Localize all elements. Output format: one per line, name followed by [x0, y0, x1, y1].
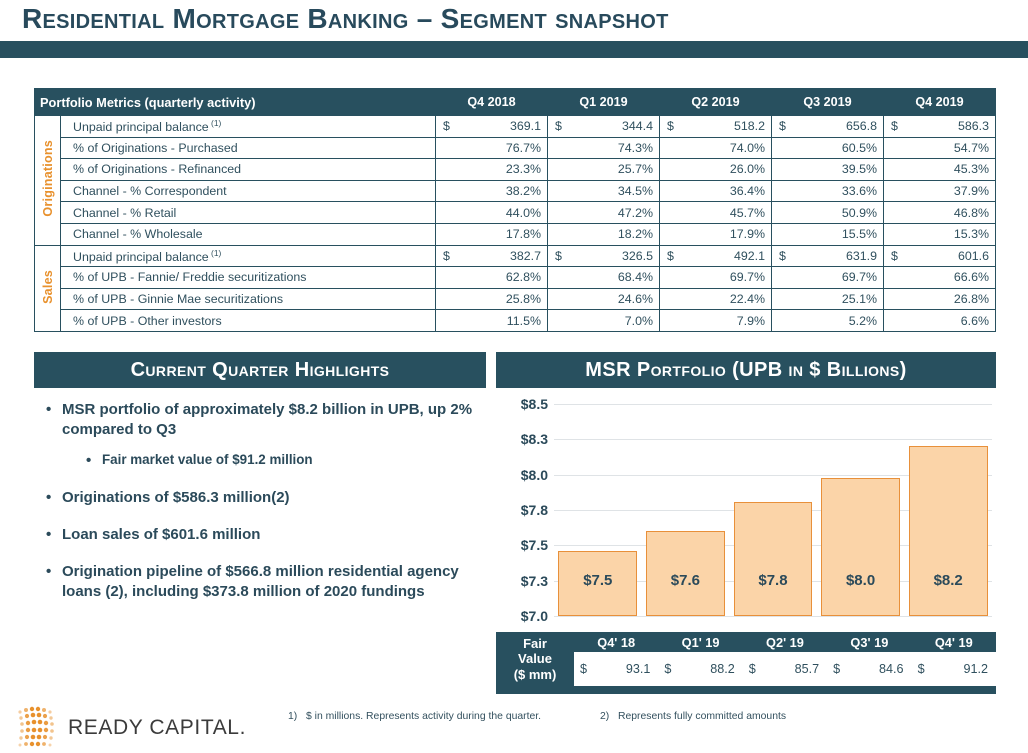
metric-value-text: 7.0% — [625, 314, 653, 328]
logo-wordmark: READY CAPITAL. — [68, 716, 246, 740]
metric-value-text: 26.8% — [954, 292, 989, 306]
metric-value-text: 60.5% — [842, 141, 877, 155]
y-axis-tick-label: $8.5 — [521, 396, 548, 412]
title-divider — [0, 41, 1028, 58]
bullet-dot-icon: • — [46, 488, 62, 508]
metric-value-text: 586.3 — [958, 119, 989, 133]
metric-value: 68.4% — [548, 267, 660, 289]
chart-bar[interactable]: $7.8 — [734, 502, 813, 616]
fair-value-col-q1-19: Q1' 19 — [658, 632, 742, 652]
currency-symbol: $ — [891, 119, 898, 133]
chart-bar[interactable]: $7.6 — [646, 531, 725, 616]
metric-value-text: 656.8 — [846, 119, 877, 133]
metric-value-text: 24.6% — [618, 292, 653, 306]
metric-value-text: 369.1 — [510, 119, 541, 133]
fair-value-cell: $84.6 — [827, 652, 911, 686]
fair-value-cell: $85.7 — [743, 652, 827, 686]
chart-bar-slot: $8.0 — [821, 404, 900, 616]
metric-value-text: 37.9% — [954, 184, 989, 198]
metric-value: 39.5% — [772, 159, 884, 181]
metric-value: 26.0% — [660, 159, 772, 181]
chart-bar-slot: $8.2 — [909, 404, 988, 616]
metric-value: 76.7% — [436, 137, 548, 159]
metric-value-text: 344.4 — [622, 119, 653, 133]
footnote-1-number: 1) — [288, 710, 306, 724]
metric-value: 7.9% — [660, 310, 772, 332]
fair-value-cell: $88.2 — [658, 652, 742, 686]
y-axis-tick-label: $7.3 — [521, 573, 548, 589]
fair-value-text: 93.1 — [626, 662, 651, 676]
metric-value: $586.3 — [884, 116, 996, 138]
metric-label: Unpaid principal balance (1) — [61, 245, 436, 267]
currency-symbol: $ — [667, 249, 674, 263]
metric-value: 18.2% — [548, 223, 660, 245]
metric-value: 47.2% — [548, 202, 660, 224]
currency-symbol: $ — [891, 249, 898, 263]
company-logo: READY CAPITAL. — [12, 705, 246, 751]
column-header-q1-2019: Q1 2019 — [548, 89, 660, 116]
msr-portfolio-header: MSR Portfolio (UPB in $ Billions) — [496, 352, 996, 388]
metric-value-text: 69.7% — [730, 270, 765, 284]
footnote-1-text: $ in millions. Represents activity durin… — [306, 710, 541, 724]
y-axis-tick-label: $7.5 — [521, 537, 548, 553]
msr-portfolio-bar-chart: $7.0$7.3$7.5$7.8$8.0$8.3$8.5 $7.5$7.6$7.… — [496, 396, 996, 630]
metric-value-text: 492.1 — [734, 249, 765, 263]
metric-value-text: 22.4% — [730, 292, 765, 306]
metric-value: 38.2% — [436, 180, 548, 202]
fair-value-col-q2-19: Q2' 19 — [743, 632, 827, 652]
currency-symbol: $ — [779, 119, 786, 133]
metric-value: 22.4% — [660, 288, 772, 310]
chart-bar-value-label: $8.0 — [846, 572, 875, 589]
metric-value-text: 74.0% — [730, 141, 765, 155]
metric-value: 37.9% — [884, 180, 996, 202]
metric-value: 66.6% — [884, 267, 996, 289]
chart-bar[interactable]: $7.5 — [558, 551, 637, 616]
metric-value-text: 68.4% — [618, 270, 653, 284]
column-header-q4-2018: Q4 2018 — [436, 89, 548, 116]
column-header-q3-2019: Q3 2019 — [772, 89, 884, 116]
metric-value-text: 45.7% — [730, 206, 765, 220]
metric-value-text: 76.7% — [506, 141, 541, 155]
metric-value: 25.8% — [436, 288, 548, 310]
metric-value: 17.8% — [436, 223, 548, 245]
metric-value-text: 54.7% — [954, 141, 989, 155]
fair-value-row-label: Fair Value ($ mm) — [496, 632, 574, 686]
metric-value-text: 631.9 — [846, 249, 877, 263]
table-row: % of Originations - Refinanced23.3%25.7%… — [35, 159, 996, 181]
highlight-bullet-text: Origination pipeline of $566.8 million r… — [62, 562, 486, 602]
metric-value: 26.8% — [884, 288, 996, 310]
highlight-bullet-text: MSR portfolio of approximately $8.2 bill… — [62, 400, 486, 440]
bullet-dot-icon: • — [46, 562, 62, 602]
metric-value-text: 26.0% — [730, 162, 765, 176]
currency-symbol: $ — [833, 662, 840, 676]
metric-value: $601.6 — [884, 245, 996, 267]
metric-value-text: 50.9% — [842, 206, 877, 220]
currency-symbol: $ — [918, 662, 925, 676]
metric-value: $382.7 — [436, 245, 548, 267]
currency-symbol: $ — [580, 662, 587, 676]
currency-symbol: $ — [555, 119, 562, 133]
metric-label: Channel - % Correspondent — [61, 180, 436, 202]
chart-bar-slot: $7.5 — [558, 404, 637, 616]
metric-value-text: 6.6% — [961, 314, 989, 328]
bullet-dot-icon: • — [46, 525, 62, 545]
metric-value-text: 25.8% — [506, 292, 541, 306]
metric-value: 34.5% — [548, 180, 660, 202]
metric-value: 50.9% — [772, 202, 884, 224]
metric-value-text: 601.6 — [958, 249, 989, 263]
metric-value-text: 382.7 — [510, 249, 541, 263]
metric-value-text: 34.5% — [618, 184, 653, 198]
table-row: Channel - % Correspondent38.2%34.5%36.4%… — [35, 180, 996, 202]
table-row: Channel - % Wholesale17.8%18.2%17.9%15.5… — [35, 223, 996, 245]
footnote-2: 2) Represents fully committed amounts — [600, 710, 900, 724]
metric-value-text: 74.3% — [618, 141, 653, 155]
fair-value-header-row: Fair Value ($ mm) Q4' 18 Q1' 19 Q2' 19 Q… — [496, 632, 996, 652]
chart-bar-value-label: $7.5 — [583, 572, 612, 589]
footnote-marker: (1) — [209, 118, 222, 128]
metric-value: 60.5% — [772, 137, 884, 159]
highlight-bullet: •Loan sales of $601.6 million — [46, 525, 486, 545]
metric-value-text: 36.4% — [730, 184, 765, 198]
table-row: % of UPB - Ginnie Mae securitizations25.… — [35, 288, 996, 310]
metric-value-text: 23.3% — [506, 162, 541, 176]
table-body: OriginationsUnpaid principal balance (1)… — [35, 116, 996, 332]
fair-value-cell: $91.2 — [912, 652, 996, 686]
metric-value-text: 518.2 — [734, 119, 765, 133]
metric-value-text: 46.8% — [954, 206, 989, 220]
fair-value-text: 85.7 — [795, 662, 820, 676]
currency-symbol: $ — [749, 662, 756, 676]
table-header-title: Portfolio Metrics (quarterly activity) — [35, 89, 436, 116]
metric-value: 74.0% — [660, 137, 772, 159]
metric-label: Channel - % Retail — [61, 202, 436, 224]
metric-label: Unpaid principal balance (1) — [61, 116, 436, 138]
metric-value-text: 69.7% — [842, 270, 877, 284]
fair-value-text: 88.2 — [710, 662, 735, 676]
highlight-bullet-text: Loan sales of $601.6 million — [62, 525, 486, 545]
ready-capital-dot-logo-icon — [12, 705, 60, 751]
footnote-1: 1) $ in millions. Represents activity du… — [288, 710, 550, 724]
chart-bar-value-label: $7.8 — [758, 572, 787, 589]
metric-value: 7.0% — [548, 310, 660, 332]
highlight-bullet: •Fair market value of $91.2 million — [86, 451, 486, 471]
chart-bar-value-label: $7.6 — [671, 572, 700, 589]
highlight-bullet-text: Fair market value of $91.2 million — [102, 451, 486, 471]
metric-label: % of UPB - Other investors — [61, 310, 436, 332]
bullet-dot-icon: • — [46, 400, 62, 440]
metric-value: 24.6% — [548, 288, 660, 310]
metric-value: 15.5% — [772, 223, 884, 245]
metric-value: 69.7% — [772, 267, 884, 289]
metric-label: % of UPB - Ginnie Mae securitizations — [61, 288, 436, 310]
metric-value-text: 5.2% — [849, 314, 877, 328]
metric-value: 6.6% — [884, 310, 996, 332]
footnote-marker: (1) — [209, 248, 222, 258]
metric-value-text: 11.5% — [507, 314, 541, 328]
section-rail-label: Originations — [41, 140, 55, 217]
metric-value-text: 7.9% — [737, 314, 765, 328]
metric-label: % of Originations - Refinanced — [61, 159, 436, 181]
metric-value-text: 17.9% — [730, 227, 765, 241]
metric-value-text: 45.3% — [954, 162, 989, 176]
metric-value: $631.9 — [772, 245, 884, 267]
metric-value-text: 18.2% — [618, 227, 653, 241]
table-row: Channel - % Retail44.0%47.2%45.7%50.9%46… — [35, 202, 996, 224]
currency-symbol: $ — [667, 119, 674, 133]
metric-value: $369.1 — [436, 116, 548, 138]
metric-value-text: 62.8% — [506, 270, 541, 284]
fair-value-label-line-3: ($ mm) — [496, 667, 574, 682]
chart-y-axis: $7.0$7.3$7.5$7.8$8.0$8.3$8.5 — [496, 396, 552, 630]
metric-value: 17.9% — [660, 223, 772, 245]
y-axis-tick-label: $7.0 — [521, 608, 548, 624]
metric-value-text: 25.7% — [618, 162, 653, 176]
table-header: Portfolio Metrics (quarterly activity) Q… — [35, 89, 996, 116]
metric-value: 15.3% — [884, 223, 996, 245]
currency-symbol: $ — [443, 249, 450, 263]
section-rail-originations: Originations — [35, 116, 61, 246]
column-header-q2-2019: Q2 2019 — [660, 89, 772, 116]
metric-value: 69.7% — [660, 267, 772, 289]
metric-value: 5.2% — [772, 310, 884, 332]
table-header-row: Portfolio Metrics (quarterly activity) Q… — [35, 89, 996, 116]
column-header-q4-2019: Q4 2019 — [884, 89, 996, 116]
current-quarter-highlights-header: Current Quarter Highlights — [34, 352, 486, 388]
metric-value: $344.4 — [548, 116, 660, 138]
metric-value-text: 66.6% — [954, 270, 989, 284]
metric-value: 11.5% — [436, 310, 548, 332]
metric-value-text: 15.5% — [842, 227, 877, 241]
metric-value: 46.8% — [884, 202, 996, 224]
metric-value: $656.8 — [772, 116, 884, 138]
metric-value-text: 326.5 — [622, 249, 653, 263]
metric-value: 45.7% — [660, 202, 772, 224]
table-row: % of UPB - Fannie/ Freddie securitizatio… — [35, 267, 996, 289]
metric-value: 33.6% — [772, 180, 884, 202]
metric-value: 62.8% — [436, 267, 548, 289]
fair-value-col-q3-19: Q3' 19 — [827, 632, 911, 652]
metric-value: 23.3% — [436, 159, 548, 181]
highlight-bullet: •Originations of $586.3 million(2) — [46, 488, 486, 508]
page-title: Residential Mortgage Banking – Segment s… — [22, 3, 669, 35]
metric-value: 45.3% — [884, 159, 996, 181]
table-row: OriginationsUnpaid principal balance (1)… — [35, 116, 996, 138]
chart-bar-slot: $7.6 — [646, 404, 725, 616]
metric-value: 36.4% — [660, 180, 772, 202]
metric-value: 54.7% — [884, 137, 996, 159]
metric-value-text: 15.3% — [954, 227, 989, 241]
metric-value-text: 33.6% — [842, 184, 877, 198]
fair-value-label-line-1: Fair — [496, 636, 574, 651]
y-axis-tick-label: $8.0 — [521, 467, 548, 483]
currency-symbol: $ — [555, 249, 562, 263]
currency-symbol: $ — [664, 662, 671, 676]
portfolio-metrics-table: Portfolio Metrics (quarterly activity) Q… — [34, 88, 996, 332]
metric-value-text: 17.8% — [506, 227, 541, 241]
chart-gridline — [554, 616, 992, 617]
chart-bar[interactable]: $8.0 — [821, 478, 900, 617]
currency-symbol: $ — [779, 249, 786, 263]
chart-bars: $7.5$7.6$7.8$8.0$8.2 — [554, 404, 992, 616]
footnote-2-number: 2) — [600, 710, 618, 724]
metric-value-text: 44.0% — [506, 206, 541, 220]
fair-value-text: 91.2 — [963, 662, 988, 676]
section-rail-sales: Sales — [35, 245, 61, 331]
metric-value-text: 47.2% — [618, 206, 653, 220]
metric-value: 25.7% — [548, 159, 660, 181]
table-row: % of UPB - Other investors11.5%7.0%7.9%5… — [35, 310, 996, 332]
metric-value: 44.0% — [436, 202, 548, 224]
fair-value-col-q4-19: Q4' 19 — [912, 632, 996, 652]
metric-value: $326.5 — [548, 245, 660, 267]
y-axis-tick-label: $7.8 — [521, 502, 548, 518]
metric-value: $518.2 — [660, 116, 772, 138]
fair-value-text: 84.6 — [879, 662, 904, 676]
metric-value-text: 25.1% — [842, 292, 877, 306]
bullet-dot-icon: • — [86, 451, 102, 471]
fair-value-col-q4-18: Q4' 18 — [574, 632, 658, 652]
section-rail-label: Sales — [41, 270, 55, 304]
currency-symbol: $ — [443, 119, 450, 133]
highlights-bullet-list: •MSR portfolio of approximately $8.2 bil… — [46, 400, 486, 619]
metric-value-text: 38.2% — [506, 184, 541, 198]
highlight-bullet: •Origination pipeline of $566.8 million … — [46, 562, 486, 602]
chart-plot-area: $7.5$7.6$7.8$8.0$8.2 — [554, 404, 992, 616]
y-axis-tick-label: $8.3 — [521, 431, 548, 447]
chart-bar-slot: $7.8 — [734, 404, 813, 616]
chart-bar-value-label: $8.2 — [934, 572, 963, 589]
fair-value-cell: $93.1 — [574, 652, 658, 686]
metric-label: Channel - % Wholesale — [61, 223, 436, 245]
highlight-bullet: •MSR portfolio of approximately $8.2 bil… — [46, 400, 486, 440]
fair-value-label-line-2: Value — [496, 651, 574, 666]
table-row: SalesUnpaid principal balance (1)$382.7$… — [35, 245, 996, 267]
metric-label: % of UPB - Fannie/ Freddie securitizatio… — [61, 267, 436, 289]
metric-label: % of Originations - Purchased — [61, 137, 436, 159]
footnote-2-text: Represents fully committed amounts — [618, 710, 786, 724]
metric-value-text: 39.5% — [842, 162, 877, 176]
table-row: % of Originations - Purchased76.7%74.3%7… — [35, 137, 996, 159]
fair-value-table: Fair Value ($ mm) Q4' 18 Q1' 19 Q2' 19 Q… — [496, 632, 996, 686]
metric-value: 25.1% — [772, 288, 884, 310]
highlight-bullet-text: Originations of $586.3 million(2) — [62, 488, 486, 508]
chart-bar[interactable]: $8.2 — [909, 446, 988, 616]
metric-value: 74.3% — [548, 137, 660, 159]
metric-value: $492.1 — [660, 245, 772, 267]
